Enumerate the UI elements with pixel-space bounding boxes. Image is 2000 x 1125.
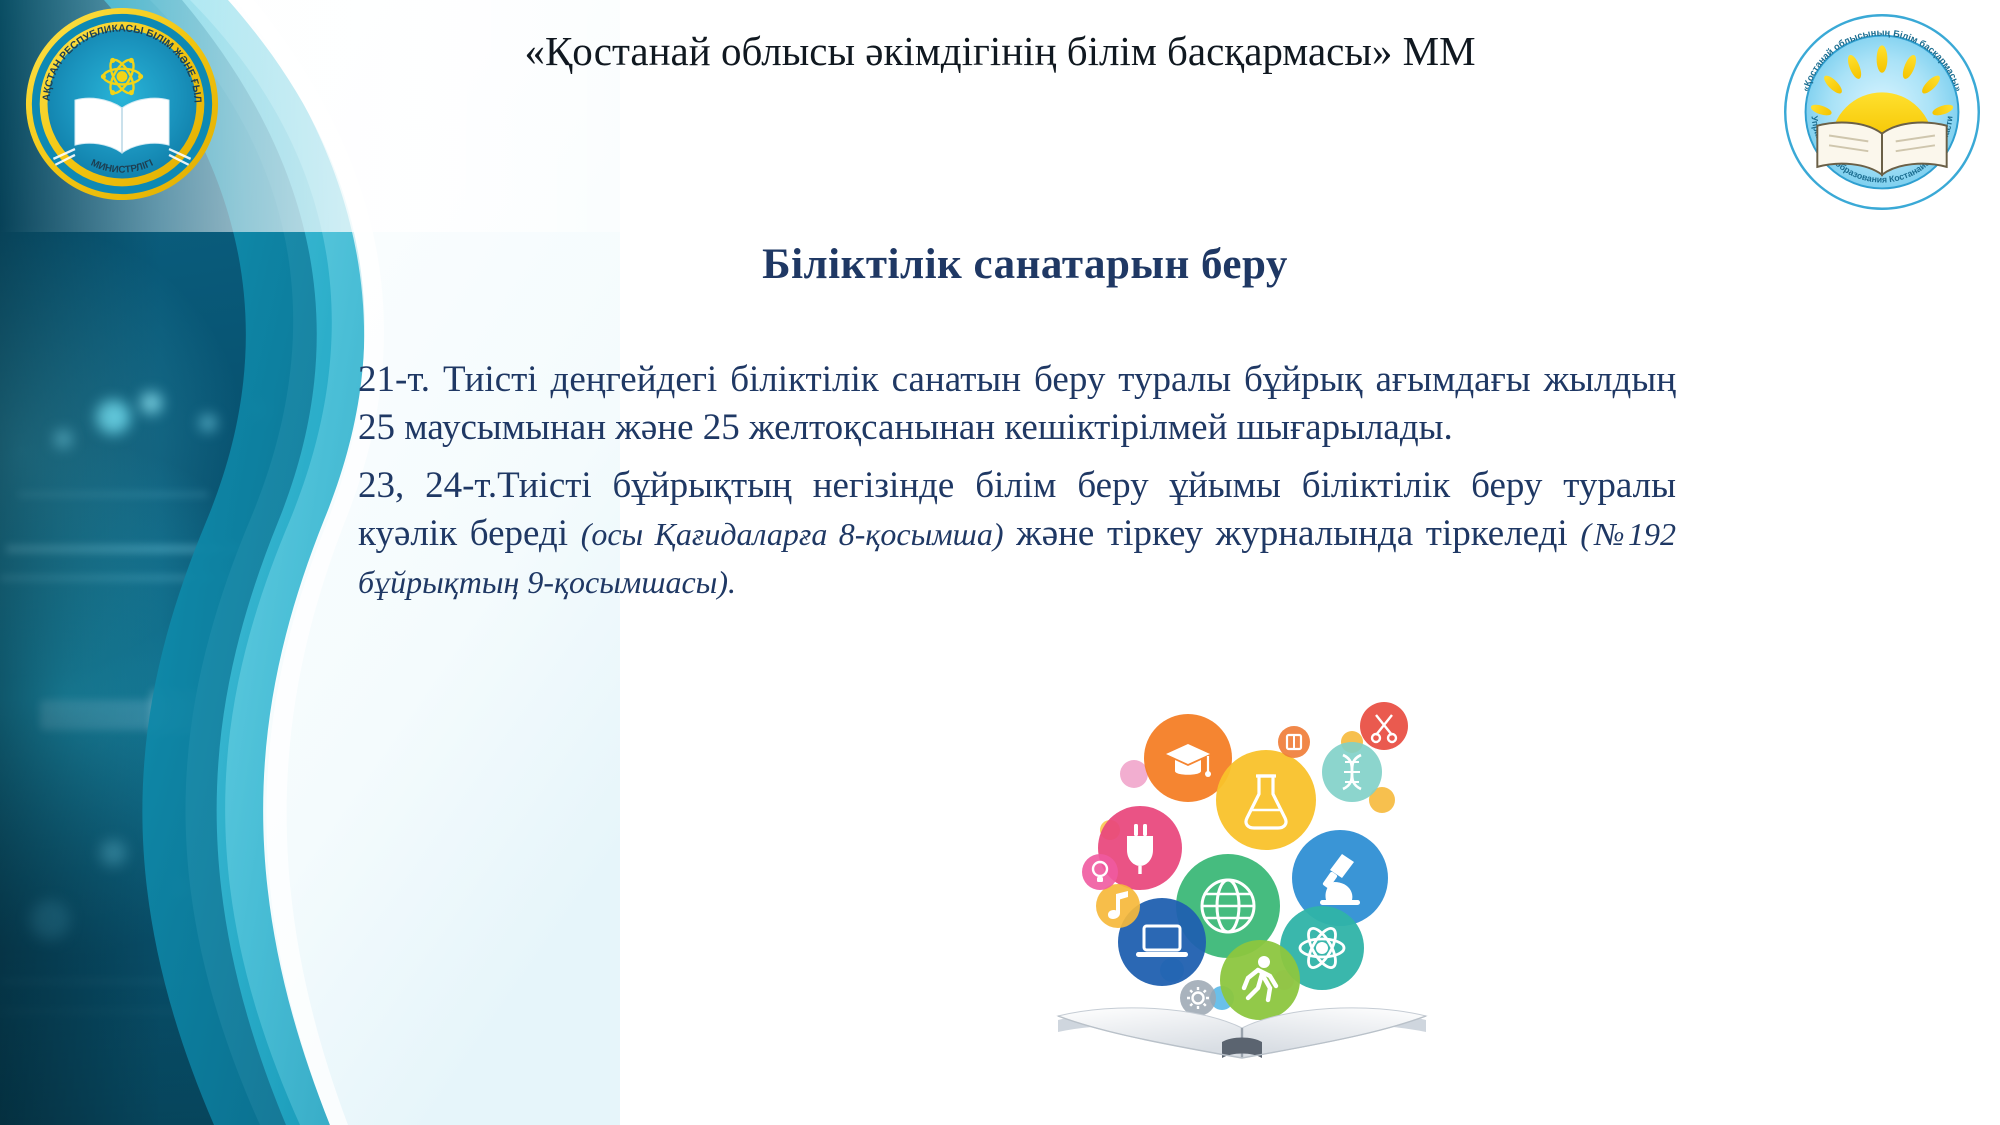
kazakhstan-ministry-emblem: ҚАЗАҚСТАН РЕСПУБЛИКАСЫ БІЛІМ ЖӘНЕ ҒЫЛЫМ … (24, 6, 220, 202)
bubble-flask (1216, 750, 1316, 850)
reference-annex-8: (осы Қағидаларға 8-қосымша) (581, 516, 1004, 552)
education-icons-illustration (1022, 680, 1462, 1080)
paragraph-23-24-part2: және тіркеу журналында тіркеледі (1004, 513, 1581, 554)
page-title: Біліктілік санатарын беру (360, 240, 1690, 289)
presentation-slide: ҚАЗАҚСТАН РЕСПУБЛИКАСЫ БІЛІМ ЖӘНЕ ҒЫЛЫМ … (0, 0, 2000, 1125)
bubble-bulb (1082, 854, 1118, 890)
slide-header-title: «Қостанай облысы әкімдігінің білім басқа… (330, 28, 1670, 75)
paragraph-23-24: 23, 24-т.Тиісті бұйрықтың негізінде білі… (358, 462, 1676, 606)
paragraph-21: 21-т. Тиісті деңгейдегі біліктілік санат… (358, 356, 1676, 452)
bubble-small (1120, 760, 1148, 788)
kostanay-education-department-emblem: «Қостанай облысының Білім басқармасы» Уп… (1784, 14, 1980, 210)
body-content: 21-т. Тиісті деңгейдегі біліктілік санат… (358, 356, 1676, 606)
bubble-gear (1180, 980, 1216, 1016)
